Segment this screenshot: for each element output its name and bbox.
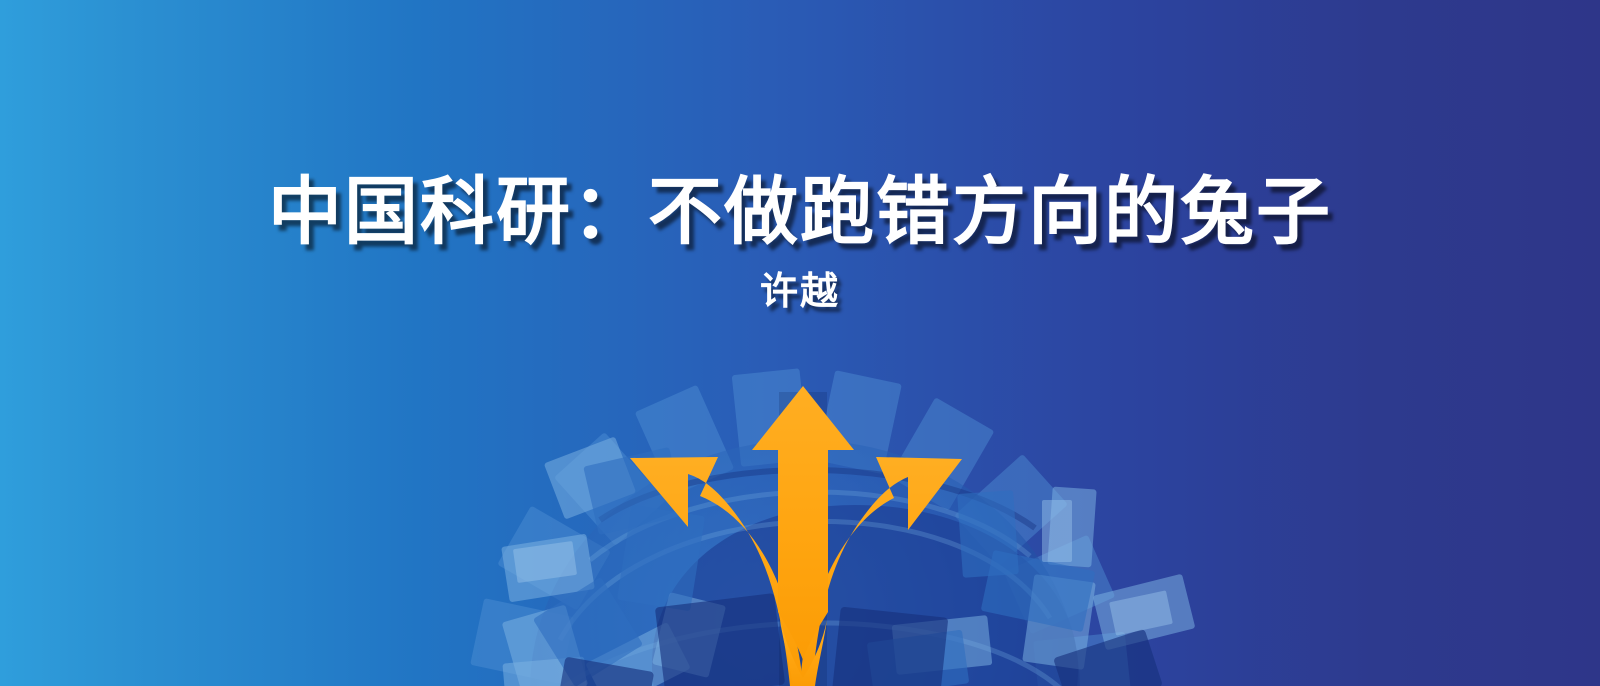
globe-meridian-arcs <box>548 492 1062 686</box>
page-title: 中国科研：不做跑错方向的兔子 <box>0 172 1600 252</box>
title-slide: 中国科研：不做跑错方向的兔子 许越 <box>0 0 1600 686</box>
arrow-trunk <box>780 620 827 686</box>
arrow-branch-right <box>800 457 962 686</box>
globe-meridian-arcs-dark <box>600 470 1035 528</box>
confetti-rectangles-mid <box>533 447 1095 686</box>
confetti-chips <box>513 500 1173 636</box>
arrow-branch-center <box>752 386 854 660</box>
gear-teeth-ring <box>468 368 1131 686</box>
arrow-branch-left <box>630 457 803 686</box>
globe-inner-lobe <box>652 505 1078 686</box>
confetti-rectangles-dark <box>556 593 1163 686</box>
author-name: 许越 <box>0 272 1600 314</box>
three-way-arrow <box>630 386 962 686</box>
confetti-rectangles-light <box>501 436 1195 686</box>
globe-disc <box>530 440 1080 686</box>
title-block: 中国科研：不做跑错方向的兔子 许越 <box>0 0 1600 314</box>
